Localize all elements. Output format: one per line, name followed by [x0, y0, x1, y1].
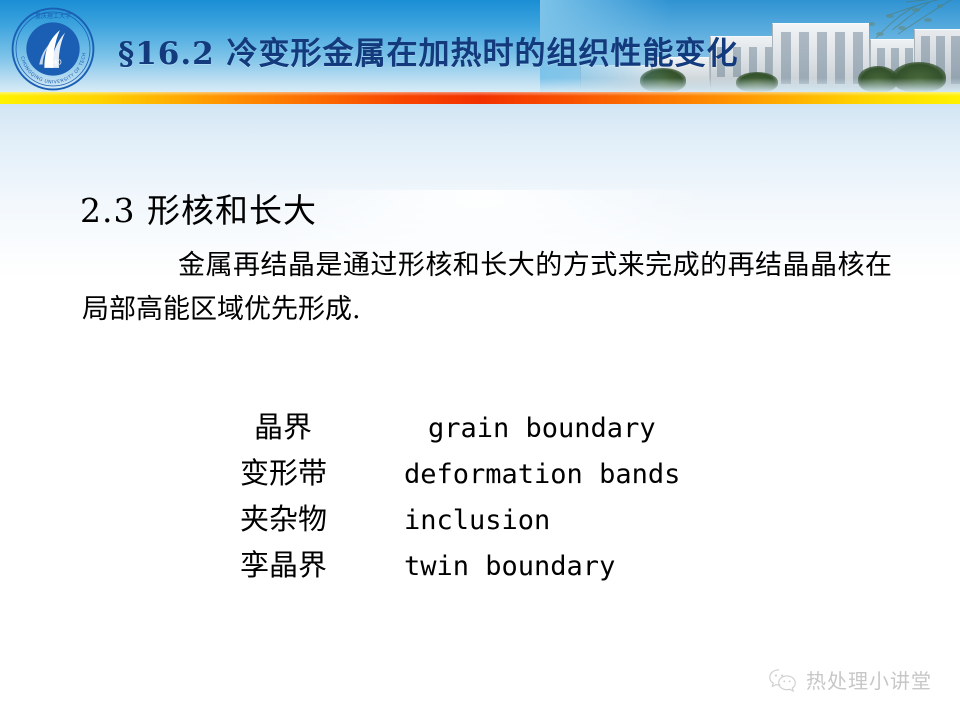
- term-english: inclusion: [380, 505, 550, 536]
- terminology-list: 晶界 grain boundary 变形带 deformation bands …: [240, 404, 680, 588]
- university-logo: 1940 重庆理工大学 CHONGQING UNIVERSITY OF TECH…: [10, 6, 96, 92]
- term-english: deformation bands: [380, 459, 680, 490]
- watermark: 热处理小讲堂: [768, 665, 932, 694]
- term-english: grain boundary: [394, 413, 656, 444]
- term-chinese: 晶界: [240, 404, 394, 446]
- term-row: 晶界 grain boundary: [240, 404, 680, 450]
- svg-text:重庆理工大学: 重庆理工大学: [35, 12, 71, 20]
- section-heading: 2.3 形核和长大: [80, 184, 317, 232]
- term-row: 夹杂物 inclusion: [240, 496, 680, 542]
- watermark-text: 热处理小讲堂: [806, 665, 932, 694]
- photo-bottom-fade: [540, 78, 960, 92]
- slide-body: 2.3 形核和长大 金属再结晶是通过形核和长大的方式来完成的再结晶晶核在局部高能…: [0, 104, 960, 720]
- term-chinese: 孪晶界: [240, 542, 380, 584]
- tree-branches: [730, 0, 960, 64]
- term-row: 孪晶界 twin boundary: [240, 542, 680, 588]
- term-chinese: 夹杂物: [240, 496, 380, 538]
- body-paragraph: 金属再结晶是通过形核和长大的方式来完成的再结晶晶核在局部高能区域优先形成.: [82, 244, 892, 332]
- header-divider-highlight: [0, 92, 960, 96]
- term-chinese: 变形带: [240, 450, 380, 492]
- svg-text:1940: 1940: [44, 58, 61, 66]
- slide: 1940 重庆理工大学 CHONGQING UNIVERSITY OF TECH…: [0, 0, 960, 720]
- term-row: 变形带 deformation bands: [240, 450, 680, 496]
- wechat-icon: [768, 667, 798, 693]
- slide-title: §16.2 冷变形金属在加热时的组织性能变化: [118, 28, 739, 73]
- slide-header: 1940 重庆理工大学 CHONGQING UNIVERSITY OF TECH…: [0, 0, 960, 92]
- term-english: twin boundary: [380, 551, 615, 582]
